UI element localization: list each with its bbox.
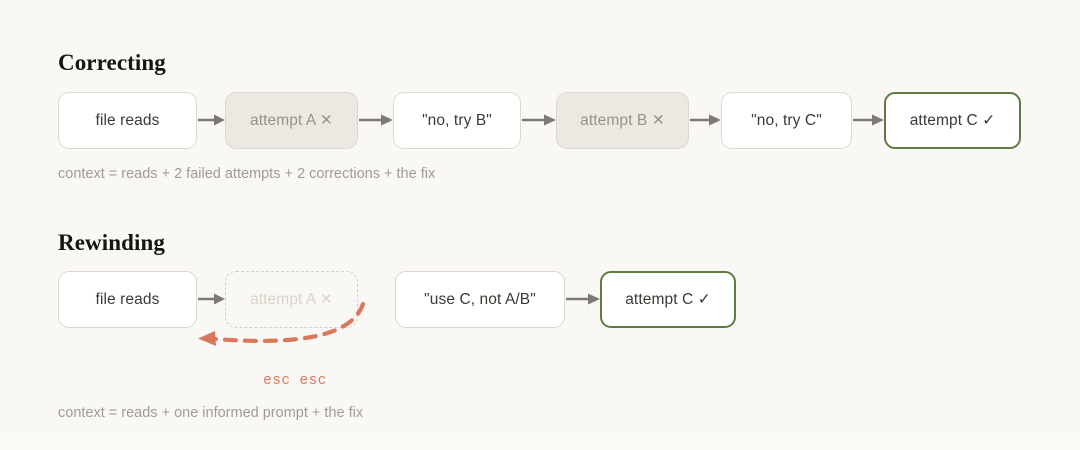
- node-file-reads-correcting: file reads: [58, 92, 197, 149]
- node-informed-prompt: "use C, not A/B": [395, 271, 565, 328]
- diagram-canvas: Correcting file reads attempt A ✕ "no, t…: [0, 0, 1080, 450]
- node-correction-c: "no, try C": [721, 92, 852, 149]
- node-attempt-c-success-rewinding: attempt C ✓: [600, 271, 736, 328]
- node-attempt-a-failed-correcting: attempt A ✕: [225, 92, 358, 149]
- arrow-right-icon: [198, 112, 226, 128]
- caption-correcting: context = reads + 2 failed attempts + 2 …: [58, 166, 435, 182]
- node-attempt-b-failed: attempt B ✕: [556, 92, 689, 149]
- arrow-right-icon: [566, 291, 601, 307]
- node-correction-b: "no, try B": [393, 92, 521, 149]
- bottom-band: [0, 439, 1080, 450]
- arrow-right-icon: [690, 112, 722, 128]
- arrow-right-icon: [853, 112, 885, 128]
- node-attempt-c-success-correcting: attempt C ✓: [884, 92, 1021, 149]
- caption-rewinding: context = reads + one informed prompt + …: [58, 405, 363, 421]
- arrow-right-icon: [359, 112, 394, 128]
- section-heading-correcting: Correcting: [58, 50, 166, 76]
- esc-esc-label: esc esc: [255, 373, 335, 389]
- arrow-right-icon: [522, 112, 557, 128]
- section-heading-rewinding: Rewinding: [58, 230, 165, 256]
- rewind-curved-arrow-icon: [185, 300, 380, 358]
- node-file-reads-rewinding: file reads: [58, 271, 197, 328]
